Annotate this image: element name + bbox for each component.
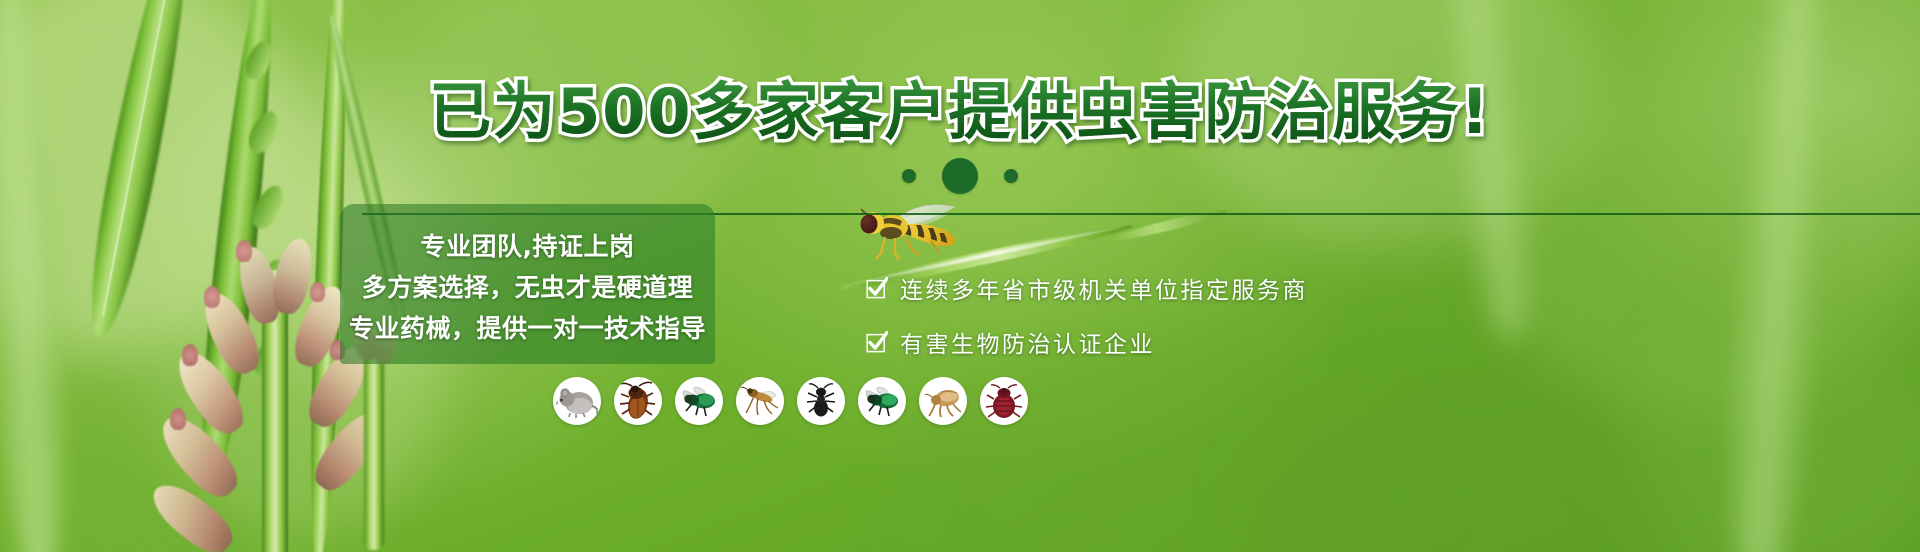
credential-list: 连续多年省市级机关单位指定服务商 有害生物防治认证企业 [866, 271, 1308, 359]
mouse-icon[interactable] [553, 377, 601, 425]
mosquito-icon[interactable] [736, 377, 784, 425]
promo-line-1: 专业团队,持证上岗 [421, 227, 635, 263]
page-headline: 已为500多家客户提供虫害防治服务! [0, 73, 1920, 151]
hoverfly-photo [843, 197, 973, 267]
fly-icon[interactable] [675, 377, 723, 425]
dot-small-left [902, 169, 916, 183]
pest-icon-row [553, 377, 1028, 425]
bedbug-icon[interactable] [980, 377, 1028, 425]
list-item: 连续多年省市级机关单位指定服务商 [866, 271, 1308, 305]
dot-small-right [1004, 169, 1018, 183]
promo-line-3: 专业药械，提供一对一技术指导 [349, 309, 706, 345]
cockroach-icon[interactable] [614, 377, 662, 425]
dot-large-center [942, 158, 978, 194]
pest-control-banner: 已为500多家客户提供虫害防治服务! 已为500多家客户提供虫害防治服务! 专业… [0, 0, 1920, 552]
decorative-dots [0, 158, 1920, 194]
checkbox-checked-icon [866, 331, 888, 353]
flea-icon[interactable] [919, 377, 967, 425]
list-item: 有害生物防治认证企业 [866, 325, 1308, 359]
blowfly-icon[interactable] [858, 377, 906, 425]
promo-line-2: 多方案选择，无虫才是硬道理 [362, 268, 694, 304]
promo-panel: 专业团队,持证上岗 多方案选择，无虫才是硬道理 专业药械，提供一对一技术指导 [340, 204, 715, 364]
ant-icon[interactable] [797, 377, 845, 425]
list-item-label: 连续多年省市级机关单位指定服务商 [900, 271, 1308, 305]
checkbox-checked-icon [866, 277, 888, 299]
list-item-label: 有害生物防治认证企业 [900, 325, 1155, 359]
